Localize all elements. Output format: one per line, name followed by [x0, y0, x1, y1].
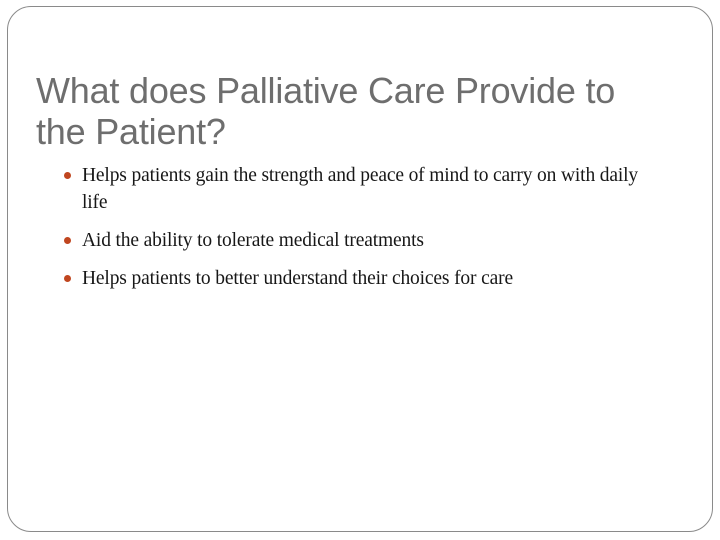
bullet-item-text: Helps patients to better understand thei… [82, 265, 648, 292]
bullet-dot-icon [64, 237, 71, 244]
list-item: Helps patients gain the strength and pea… [62, 162, 648, 216]
list-item: Aid the ability to tolerate medical trea… [62, 227, 648, 254]
bullet-item-text: Helps patients gain the strength and pea… [82, 162, 648, 216]
bullet-dot-icon [64, 275, 71, 282]
list-item: Helps patients to better understand thei… [62, 265, 648, 292]
bullet-dot-icon [64, 172, 71, 179]
bullet-item-text: Aid the ability to tolerate medical trea… [82, 227, 648, 254]
slide-title: What does Palliative Care Provide to the… [36, 70, 656, 152]
bullet-list: Helps patients gain the strength and pea… [62, 162, 648, 292]
slide-content: What does Palliative Care Provide to the… [0, 0, 720, 540]
slide-root: What does Palliative Care Provide to the… [0, 0, 720, 540]
